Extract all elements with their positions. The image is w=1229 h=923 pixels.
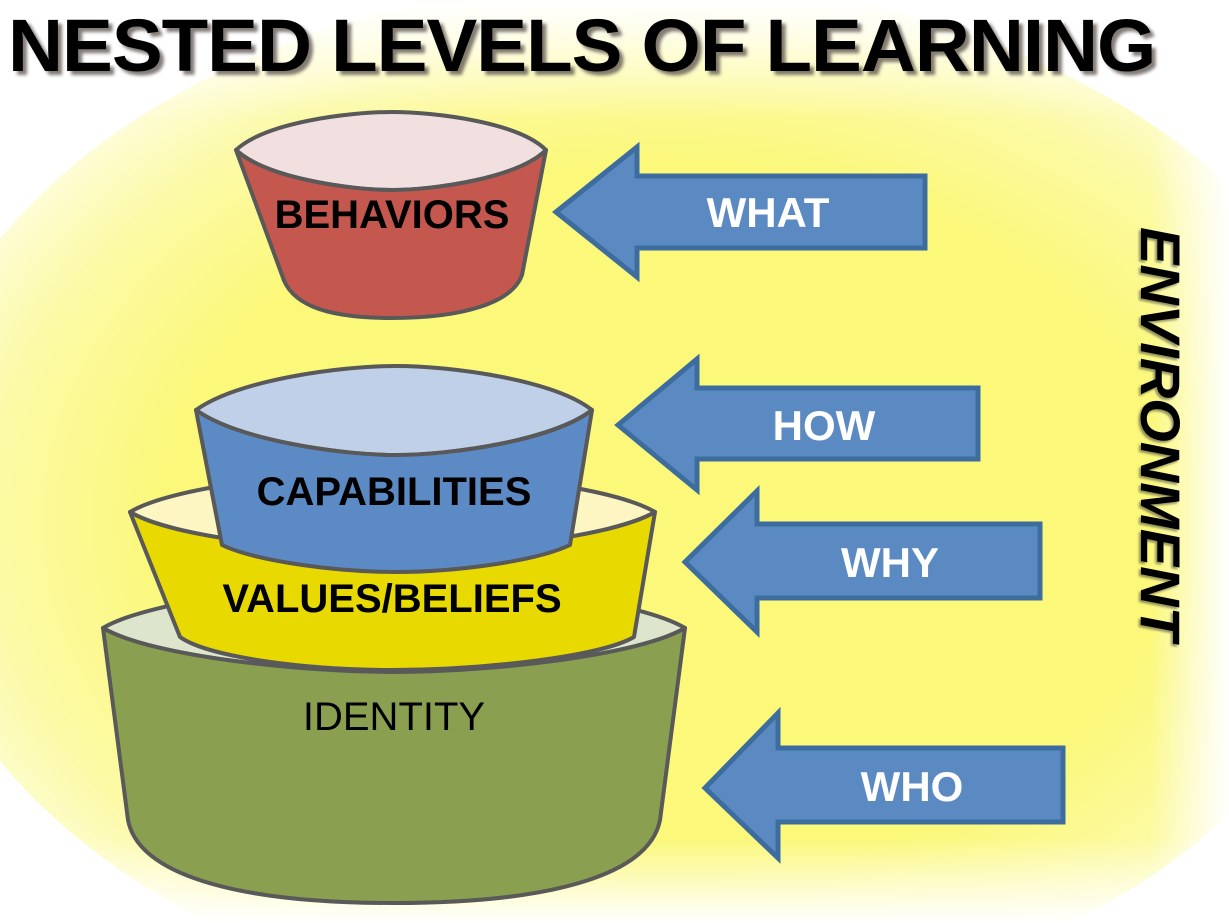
environment-label: ENVIRONMENT <box>1125 227 1195 647</box>
arrow-how[interactable]: HOW <box>618 359 978 490</box>
capabilities-label: CAPABILITIES <box>257 470 532 514</box>
nested-bowls-diagram: IDENTITY VALUES/BELIEFS CAPABILITIES BEH… <box>0 0 1229 923</box>
arrow-what-label: WHAT <box>707 189 830 236</box>
arrow-what[interactable]: WHAT <box>556 147 925 277</box>
arrow-why[interactable]: WHY <box>685 491 1040 632</box>
values-label: VALUES/BELIEFS <box>222 577 561 621</box>
arrow-how-label: HOW <box>773 402 876 449</box>
arrow-why-label: WHY <box>841 539 939 586</box>
identity-label: IDENTITY <box>303 695 485 739</box>
behaviors-label: BEHAVIORS <box>275 193 510 237</box>
diagram-canvas: NESTED LEVELS OF LEARNING IDENTITY VALUE… <box>0 0 1229 923</box>
level-capabilities: CAPABILITIES <box>196 366 592 572</box>
arrow-who-label: WHO <box>861 763 964 810</box>
level-behaviors: BEHAVIORS <box>236 112 546 318</box>
arrow-who[interactable]: WHO <box>705 713 1063 858</box>
